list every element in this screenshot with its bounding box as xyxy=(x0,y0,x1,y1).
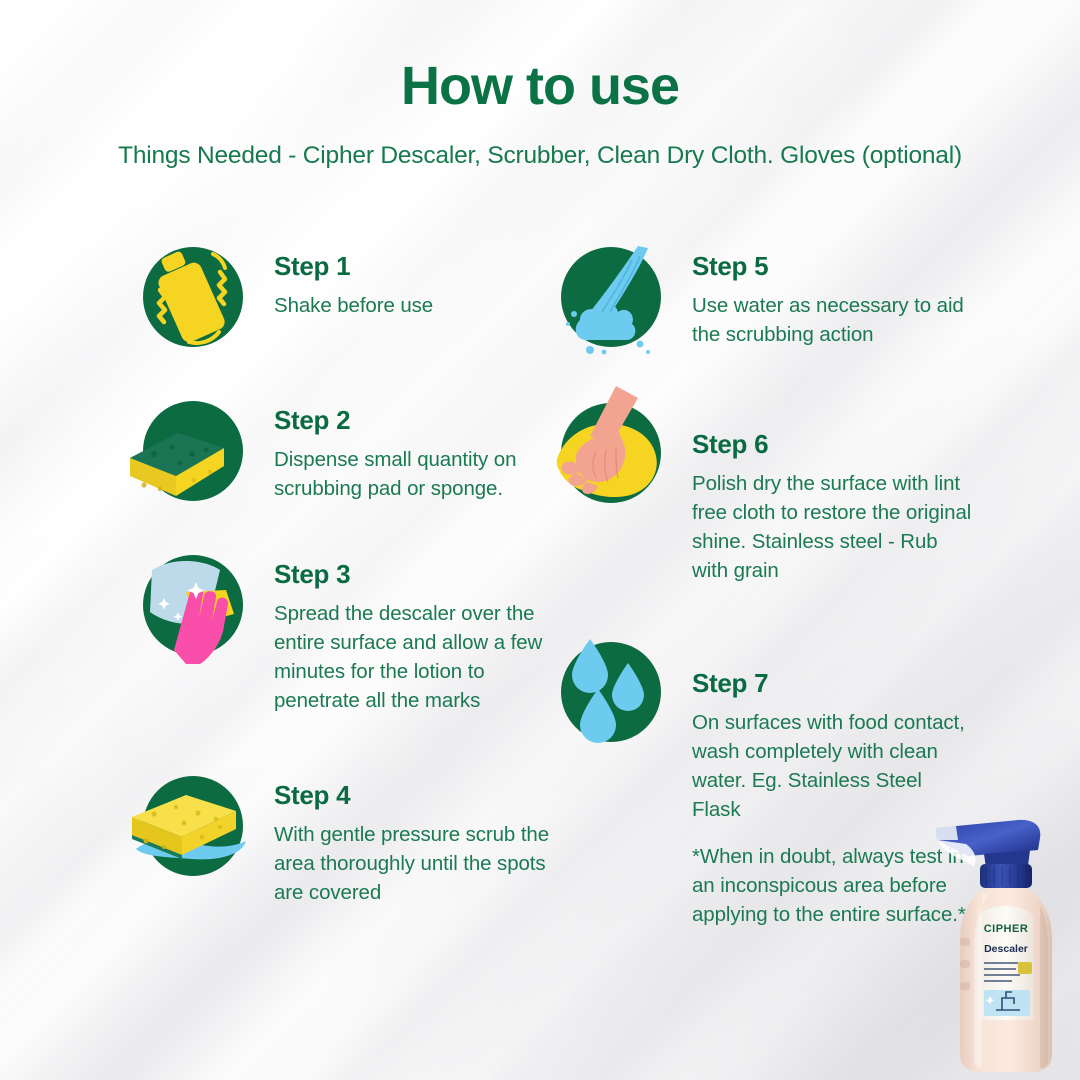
steps-column-left: Step 1 Shake before use xyxy=(134,238,554,907)
bottle-badge xyxy=(1018,962,1032,974)
step-1-icon-wrap xyxy=(134,238,252,356)
water-stream-icon xyxy=(552,238,670,356)
things-needed-subtitle: Things Needed - Cipher Descaler, Scrubbe… xyxy=(0,141,1080,170)
step-4-icon-wrap xyxy=(134,767,252,885)
step-text: With gentle pressure scrub the area thor… xyxy=(274,820,554,907)
step-text: Spread the descaler over the entire surf… xyxy=(274,599,554,715)
step-7-icon-wrap xyxy=(552,633,670,751)
steps-column-right: Step 5 Use water as necessary to aid the… xyxy=(552,238,972,929)
step-item-4: Step 4 With gentle pressure scrub the ar… xyxy=(134,767,554,907)
step-text: On surfaces with food contact, wash comp… xyxy=(692,708,972,824)
step-text: Use water as necessary to aid the scrubb… xyxy=(692,291,972,349)
step-5-icon-wrap xyxy=(552,238,670,356)
page-title: How to use xyxy=(0,58,1080,115)
hand-polishing-cloth-icon xyxy=(552,394,670,512)
step-title: Step 3 xyxy=(274,560,554,589)
step-3-body: Step 3 Spread the descaler over the enti… xyxy=(274,546,554,715)
water-droplets-icon xyxy=(552,633,670,751)
product-spray-bottle: CIPHER Descaler xyxy=(922,810,1072,1080)
scrub-sponge-icon xyxy=(134,392,252,510)
step-item-3: Step 3 Spread the descaler over the enti… xyxy=(134,546,554,715)
step-item-7: Step 7 On surfaces with food contact, wa… xyxy=(552,633,972,929)
step-title: Step 6 xyxy=(692,430,972,459)
bottle-label-image xyxy=(984,990,1030,1016)
step-text: Polish dry the surface with lint free cl… xyxy=(692,469,972,585)
step-text: Dispense small quantity on scrubbing pad… xyxy=(274,445,554,503)
step-item-2: Step 2 Dispense small quantity on scrubb… xyxy=(134,392,554,510)
bottle-product-name: Descaler xyxy=(984,943,1028,955)
step-item-1: Step 1 Shake before use xyxy=(134,238,554,356)
bottle-cap xyxy=(980,864,1032,888)
step-title: Step 1 xyxy=(274,252,433,281)
sponge-with-water-icon xyxy=(134,767,252,885)
step-item-5: Step 5 Use water as necessary to aid the… xyxy=(552,238,972,356)
step-2-icon-wrap xyxy=(134,392,252,510)
step-title: Step 2 xyxy=(274,406,554,435)
how-to-use-infographic: How to use Things Needed - Cipher Descal… xyxy=(0,0,1080,1080)
header: How to use Things Needed - Cipher Descal… xyxy=(0,58,1080,170)
step-title: Step 7 xyxy=(692,669,972,698)
step-1-body: Step 1 Shake before use xyxy=(274,238,433,320)
gloved-hand-wiping-icon xyxy=(134,546,252,664)
step-3-icon-wrap xyxy=(134,546,252,664)
bottle-brand-text: CIPHER xyxy=(984,923,1029,935)
step-5-body: Step 5 Use water as necessary to aid the… xyxy=(692,238,972,349)
bottle-trigger xyxy=(932,820,1040,868)
step-2-body: Step 2 Dispense small quantity on scrubb… xyxy=(274,392,554,503)
step-text: Shake before use xyxy=(274,291,433,320)
step-4-body: Step 4 With gentle pressure scrub the ar… xyxy=(274,767,554,907)
step-6-body: Step 6 Polish dry the surface with lint … xyxy=(692,394,972,585)
step-6-icon-wrap xyxy=(552,394,670,512)
shaking-bottle-icon xyxy=(134,238,252,356)
step-title: Step 4 xyxy=(274,781,554,810)
step-title: Step 5 xyxy=(692,252,972,281)
step-item-6: Step 6 Polish dry the surface with lint … xyxy=(552,394,972,585)
